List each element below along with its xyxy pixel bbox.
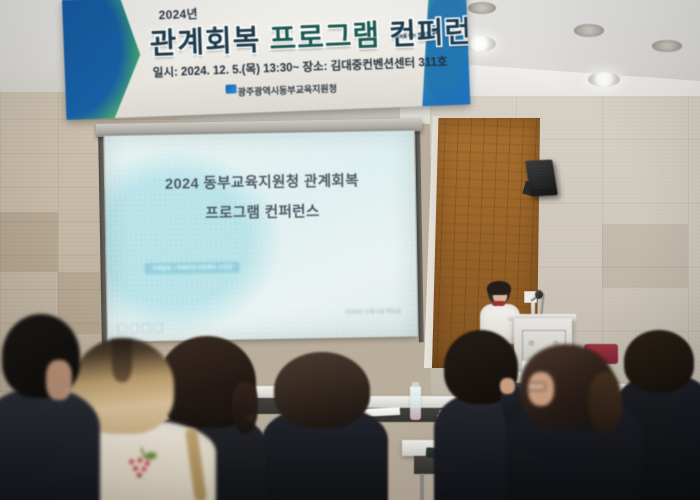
education-office-emblem-icon: [225, 84, 236, 93]
slide-subtitle-tag: 사례발표 | 미래비전교육센터 소강당: [144, 262, 239, 275]
wall-tile-patch: [0, 212, 58, 272]
eyeglasses-icon: [526, 382, 546, 391]
ceiling-vent-icon: [652, 40, 682, 52]
banner-wave-graphic-left: [62, 0, 143, 120]
audience-head: [624, 330, 694, 392]
audience-person: [0, 388, 100, 500]
wall-speaker-icon: [525, 160, 558, 197]
projection-screen-assembly: 2024 동부교육지원청 관계회복 프로그램 컨퍼런스 사례발표 | 미래비전교…: [96, 118, 426, 350]
banner-organization: 광주광역시동부교육지원청: [237, 82, 337, 99]
audience-hair-strand: [232, 382, 258, 434]
banner-headline-part1: 관계회복: [149, 24, 261, 60]
slide-logo-mark: [117, 323, 126, 333]
conference-photo: 2024년 관계회복 프로그램 컨퍼런스 일시: 2024. 12. 5.(목)…: [0, 0, 700, 500]
slide-logo-mark: [141, 323, 150, 333]
slide-date-footer: 2024년 12월 5일 목요일: [345, 308, 401, 316]
water-bottle: [410, 386, 421, 420]
berry-motif-icon: [126, 452, 156, 482]
banner-headline-part2: 프로그램: [269, 20, 381, 56]
event-banner: 2024년 관계회복 프로그램 컨퍼런스 일시: 2024. 12. 5.(목)…: [62, 0, 470, 120]
downlight-icon: [588, 72, 620, 87]
wall-tile-patch: [602, 224, 688, 288]
audience-hair-part: [112, 340, 132, 382]
slide-logo-row: [117, 323, 162, 334]
microphone-icon: [535, 290, 543, 299]
ceiling-vent-icon: [574, 24, 604, 37]
projection-screen: 2024 동부교육지원청 관계회복 프로그램 컨퍼런스 사례발표 | 미래비전교…: [104, 130, 418, 341]
audience-hair-curl: [588, 372, 622, 434]
presenter-scarf: [492, 301, 505, 306]
berry-body: [126, 456, 154, 482]
slide-logo-mark: [153, 323, 162, 333]
slide-logo-mark: [129, 323, 138, 333]
audience-hand: [500, 378, 515, 394]
table-leg: [420, 474, 424, 500]
audience-head: [274, 352, 370, 428]
audience-neck: [46, 360, 72, 400]
ceiling-vent-icon: [468, 2, 496, 14]
bottle-cap: [412, 382, 419, 387]
presenter-hair: [487, 281, 511, 295]
